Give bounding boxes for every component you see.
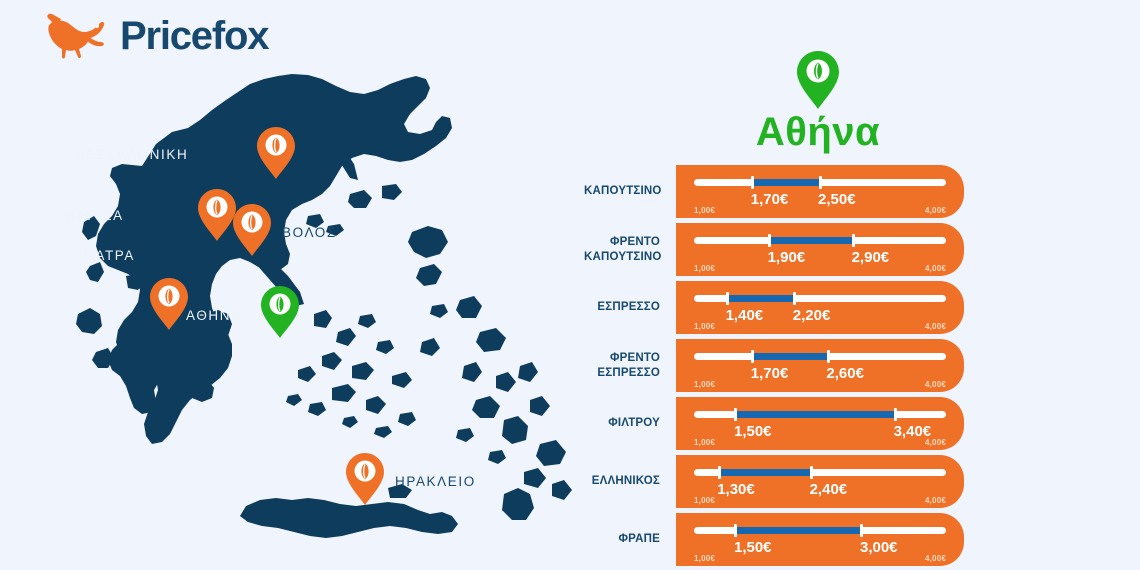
drink-name-label: ΕΛΛΗΝΙΚΟΣ [584, 474, 676, 488]
price-low-value: 1,40€ [726, 307, 764, 324]
fox-icon [44, 12, 110, 60]
scale-min-label: 1,00€ [694, 438, 715, 447]
slider-handle-low[interactable] [726, 292, 729, 305]
price-range-card: 1,00€4,00€1,30€2,40€ [676, 455, 964, 508]
slider-handle-low[interactable] [751, 350, 754, 363]
scale-min-label: 1,00€ [694, 496, 715, 505]
price-range-slider[interactable]: 1,00€4,00€1,40€2,20€ [694, 295, 946, 319]
slider-range-fill [736, 411, 896, 418]
map-city-label: ΗΡΑΚΛΕΙΟ [395, 474, 476, 489]
map-pin-πατρα[interactable] [149, 277, 189, 331]
price-range-card: 1,00€4,00€1,70€2,50€ [676, 165, 964, 218]
map-pin-λαρισα[interactable] [197, 188, 237, 242]
price-high-value: 2,90€ [852, 249, 890, 266]
slider-range-fill [753, 179, 820, 186]
slider-range-fill [728, 295, 795, 302]
price-high-value: 2,60€ [826, 365, 864, 382]
drink-name-label: ΦΙΛΤΡΟΥ [584, 416, 676, 430]
price-low-value: 1,70€ [751, 191, 789, 208]
price-high-value: 2,20€ [793, 307, 831, 324]
price-range-slider[interactable]: 1,00€4,00€1,70€2,60€ [694, 353, 946, 377]
price-range-list: ΚΑΠΟΥΤΣΙΝΟ1,00€4,00€1,70€2,50€ΦΡΕΝΤΟ ΚΑΠ… [584, 165, 964, 570]
drink-name-label: ΦΡΕΝΤΟ ΚΑΠΟΥΤΣΙΝΟ [584, 235, 676, 263]
map-pin-ηρακλειο[interactable] [345, 452, 385, 506]
price-range-card: 1,00€4,00€1,50€3,00€ [676, 513, 964, 566]
scale-min-label: 1,00€ [694, 322, 715, 331]
price-low-value: 1,30€ [717, 481, 755, 498]
price-low-value: 1,50€ [734, 423, 772, 440]
map-city-label: ΠΑΤΡΑ [84, 248, 135, 263]
price-row: ΦΙΛΤΡΟΥ1,00€4,00€1,50€3,40€ [584, 397, 964, 450]
price-range-slider[interactable]: 1,00€4,00€1,30€2,40€ [694, 469, 946, 493]
slider-handle-high[interactable] [793, 292, 796, 305]
price-row: ΦΡΑΠΕ1,00€4,00€1,50€3,00€ [584, 513, 964, 566]
slider-handle-high[interactable] [852, 234, 855, 247]
price-low-value: 1,70€ [751, 365, 789, 382]
price-high-value: 2,50€ [818, 191, 856, 208]
price-high-value: 3,40€ [894, 423, 932, 440]
brand-logo[interactable]: Pricefox [44, 12, 268, 60]
price-row: ΦΡΕΝΤΟ ΚΑΠΟΥΤΣΙΝΟ1,00€4,00€1,90€2,90€ [584, 223, 964, 276]
scale-max-label: 4,00€ [925, 322, 946, 331]
price-low-value: 1,90€ [768, 249, 806, 266]
price-range-slider[interactable]: 1,00€4,00€1,90€2,90€ [694, 237, 946, 261]
scale-min-label: 1,00€ [694, 554, 715, 563]
scale-max-label: 4,00€ [925, 206, 946, 215]
price-row: ΕΛΛΗΝΙΚΟΣ1,00€4,00€1,30€2,40€ [584, 455, 964, 508]
coffee-bean-pin-icon [796, 50, 840, 110]
price-range-card: 1,00€4,00€1,90€2,90€ [676, 223, 964, 276]
price-row: ΕΣΠΡΕΣΣΟ1,00€4,00€1,40€2,20€ [584, 281, 964, 334]
slider-range-fill [719, 469, 811, 476]
drink-name-label: ΦΡΕΝΤΟ ΕΣΠΡΕΣΣΟ [584, 351, 676, 379]
map-pin-selected-αθηνα[interactable] [260, 285, 300, 339]
slider-handle-high[interactable] [827, 350, 830, 363]
map-pin-θεσσαλονικη[interactable] [256, 126, 296, 180]
price-high-value: 3,00€ [860, 539, 898, 556]
scale-min-label: 1,00€ [694, 380, 715, 389]
scale-min-label: 1,00€ [694, 264, 715, 273]
slider-handle-low[interactable] [768, 234, 771, 247]
price-row: ΚΑΠΟΥΤΣΙΝΟ1,00€4,00€1,70€2,50€ [584, 165, 964, 218]
city-name: Αθήνα [756, 112, 880, 152]
price-high-value: 2,40€ [810, 481, 848, 498]
drink-name-label: ΦΡΑΠΕ [584, 532, 676, 546]
greece-map[interactable]: ΘΕΣΣΑΛΟΝΙΚΗΛΑΡΙΣΑΒΟΛΟΣΠΑΤΡΑΑΘΗΝΑΗΡΑΚΛΕΙΟ [60, 70, 600, 560]
map-pin-βολος[interactable] [232, 203, 272, 257]
price-row: ΦΡΕΝΤΟ ΕΣΠΡΕΣΣΟ1,00€4,00€1,70€2,60€ [584, 339, 964, 392]
selected-city-header: Αθήνα [676, 50, 960, 152]
brand-wordmark: Pricefox [120, 16, 268, 56]
drink-name-label: ΕΣΠΡΕΣΣΟ [584, 300, 676, 314]
slider-handle-high[interactable] [894, 408, 897, 421]
slider-handle-low[interactable] [751, 176, 754, 189]
slider-range-fill [753, 353, 829, 360]
slider-range-fill [770, 237, 854, 244]
price-range-slider[interactable]: 1,00€4,00€1,70€2,50€ [694, 179, 946, 203]
map-city-label: ΑΘΗΝΑ [186, 308, 242, 323]
price-range-slider[interactable]: 1,00€4,00€1,50€3,40€ [694, 411, 946, 435]
page-root: Pricefox [0, 0, 1140, 570]
price-range-card: 1,00€4,00€1,50€3,40€ [676, 397, 964, 450]
scale-max-label: 4,00€ [925, 380, 946, 389]
scale-max-label: 4,00€ [925, 264, 946, 273]
slider-range-fill [736, 527, 862, 534]
drink-name-label: ΚΑΠΟΥΤΣΙΝΟ [584, 184, 676, 198]
map-city-label: ΘΕΣΣΑΛΟΝΙΚΗ [74, 147, 188, 162]
scale-min-label: 1,00€ [694, 206, 715, 215]
map-city-label: ΛΑΡΙΣΑ [66, 208, 124, 223]
slider-handle-low[interactable] [718, 466, 721, 479]
scale-max-label: 4,00€ [925, 554, 946, 563]
price-range-card: 1,00€4,00€1,70€2,60€ [676, 339, 964, 392]
scale-max-label: 4,00€ [925, 496, 946, 505]
price-low-value: 1,50€ [734, 539, 772, 556]
map-city-label: ΒΟΛΟΣ [282, 225, 337, 240]
map-silhouette [60, 70, 600, 560]
price-range-card: 1,00€4,00€1,40€2,20€ [676, 281, 964, 334]
price-range-slider[interactable]: 1,00€4,00€1,50€3,00€ [694, 527, 946, 551]
slider-handle-high[interactable] [810, 466, 813, 479]
slider-handle-high[interactable] [819, 176, 822, 189]
